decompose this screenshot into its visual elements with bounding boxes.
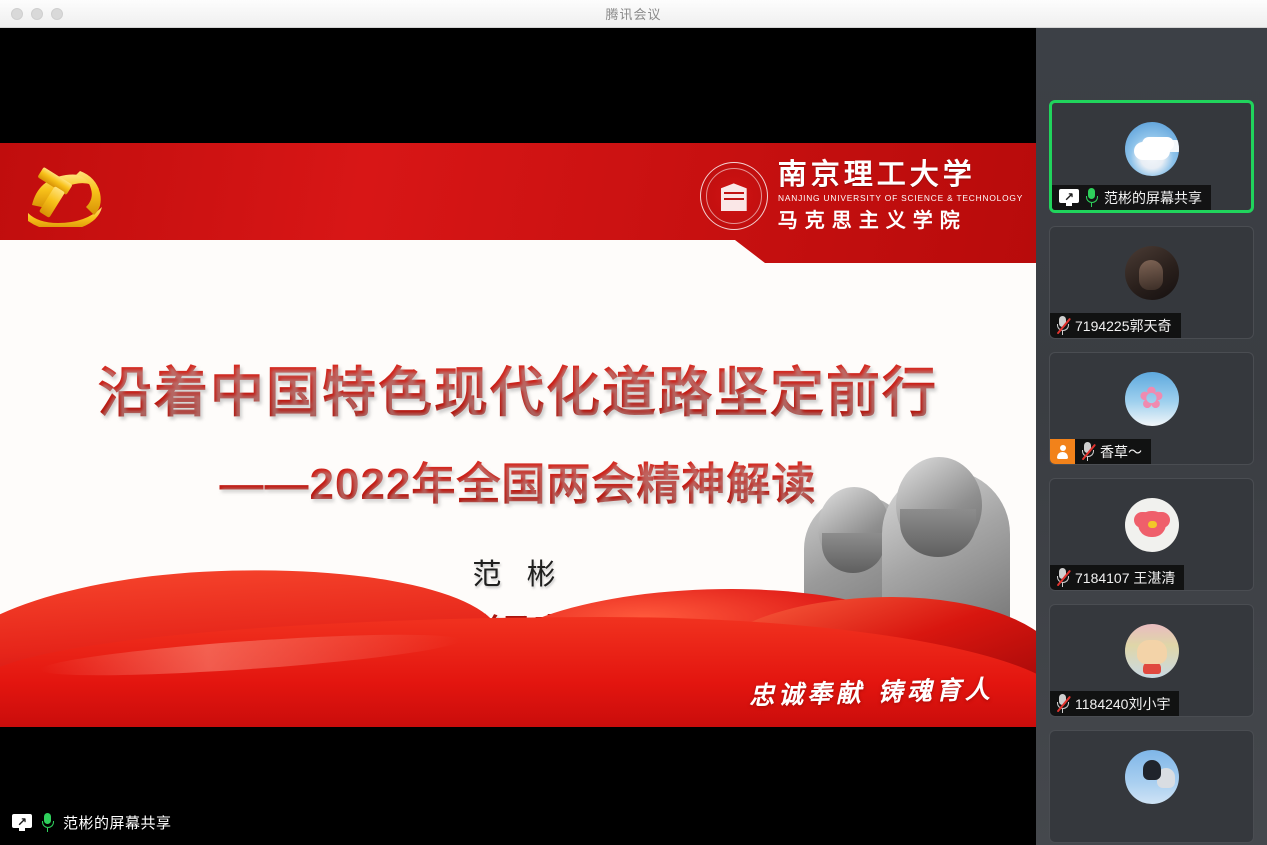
university-logo: 南京理工大学 NANJING UNIVERSITY OF SCIENCE & T… xyxy=(700,155,1018,237)
participant-tile[interactable]: 1184240刘小宇 xyxy=(1049,604,1254,717)
screen-share-icon: ↗ xyxy=(1059,189,1079,206)
sky-person-avatar xyxy=(1125,750,1179,804)
participant-tile[interactable] xyxy=(1049,730,1254,843)
window-title: 腾讯会议 xyxy=(0,4,1267,23)
window-titlebar: 腾讯会议 xyxy=(0,0,1267,28)
participant-name-strip: 7194225郭天奇 xyxy=(1050,313,1181,338)
participant-name: 7194225郭天奇 xyxy=(1075,316,1172,336)
shared-screen-stage[interactable]: 南京理工大学 NANJING UNIVERSITY OF SCIENCE & T… xyxy=(0,28,1036,845)
screen-share-label: 范彬的屏幕共享 xyxy=(63,812,172,833)
participant-tile[interactable]: 7194225郭天奇 xyxy=(1049,226,1254,339)
slide-motto: 忠诚奉献 铸魂育人 xyxy=(749,670,995,713)
participant-tile-list: ↗ 范彬的屏幕共享 7194225郭天奇 xyxy=(1036,100,1267,845)
university-seal-icon xyxy=(700,162,768,230)
slide-header-band: 南京理工大学 NANJING UNIVERSITY OF SCIENCE & T… xyxy=(0,143,1036,263)
hammer-and-sickle-emblem xyxy=(22,161,120,227)
university-name-cn: 南京理工大学 xyxy=(778,161,1018,190)
participant-tile[interactable]: 7184107 王湛清 xyxy=(1049,478,1254,591)
participant-name: 7184107 王湛清 xyxy=(1075,568,1175,588)
red-silk-ribbon: 忠诚奉献 铸魂育人 xyxy=(0,567,1036,727)
flower-avatar xyxy=(1125,372,1179,426)
participant-name-strip: 7184107 王湛清 xyxy=(1050,565,1184,590)
pig-cartoon-avatar xyxy=(1125,498,1179,552)
presentation-slide: 南京理工大学 NANJING UNIVERSITY OF SCIENCE & T… xyxy=(0,143,1036,727)
participant-name-strip: 1184240刘小宇 xyxy=(1050,691,1179,716)
person-violin-avatar xyxy=(1125,246,1179,300)
cloud-avatar xyxy=(1125,122,1179,176)
slide-title: 沿着中国特色现代化道路坚定前行 xyxy=(0,348,1036,427)
university-name-en: NANJING UNIVERSITY OF SCIENCE & TECHNOLO… xyxy=(778,195,1023,203)
meeting-window: 腾讯会议 xyxy=(0,0,1267,845)
microphone-on-icon xyxy=(1085,188,1098,207)
microphone-muted-icon xyxy=(1056,316,1069,335)
crayon-shinchan-avatar xyxy=(1125,624,1179,678)
participant-name: 范彬的屏幕共享 xyxy=(1104,188,1202,208)
department-name: 马克思主义学院 xyxy=(778,211,1018,231)
participant-tile[interactable]: ↗ 范彬的屏幕共享 xyxy=(1049,100,1254,213)
participant-name-strip: 香草～ xyxy=(1075,439,1151,464)
microphone-on-icon[interactable] xyxy=(41,813,54,832)
screen-share-status-bar: ↗ 范彬的屏幕共享 xyxy=(8,807,176,837)
screen-share-icon: ↗ xyxy=(12,814,32,831)
participant-name: 香草～ xyxy=(1100,442,1142,462)
participants-sidebar[interactable]: ↗ 范彬的屏幕共享 7194225郭天奇 xyxy=(1036,28,1267,845)
participant-name: 1184240刘小宇 xyxy=(1075,694,1170,714)
microphone-muted-icon xyxy=(1081,442,1094,461)
participant-name-strip: ↗ 范彬的屏幕共享 xyxy=(1052,185,1211,210)
microphone-muted-icon xyxy=(1056,568,1069,587)
host-badge xyxy=(1050,439,1075,464)
participant-tile[interactable]: 香草～ xyxy=(1049,352,1254,465)
microphone-muted-icon xyxy=(1056,694,1069,713)
